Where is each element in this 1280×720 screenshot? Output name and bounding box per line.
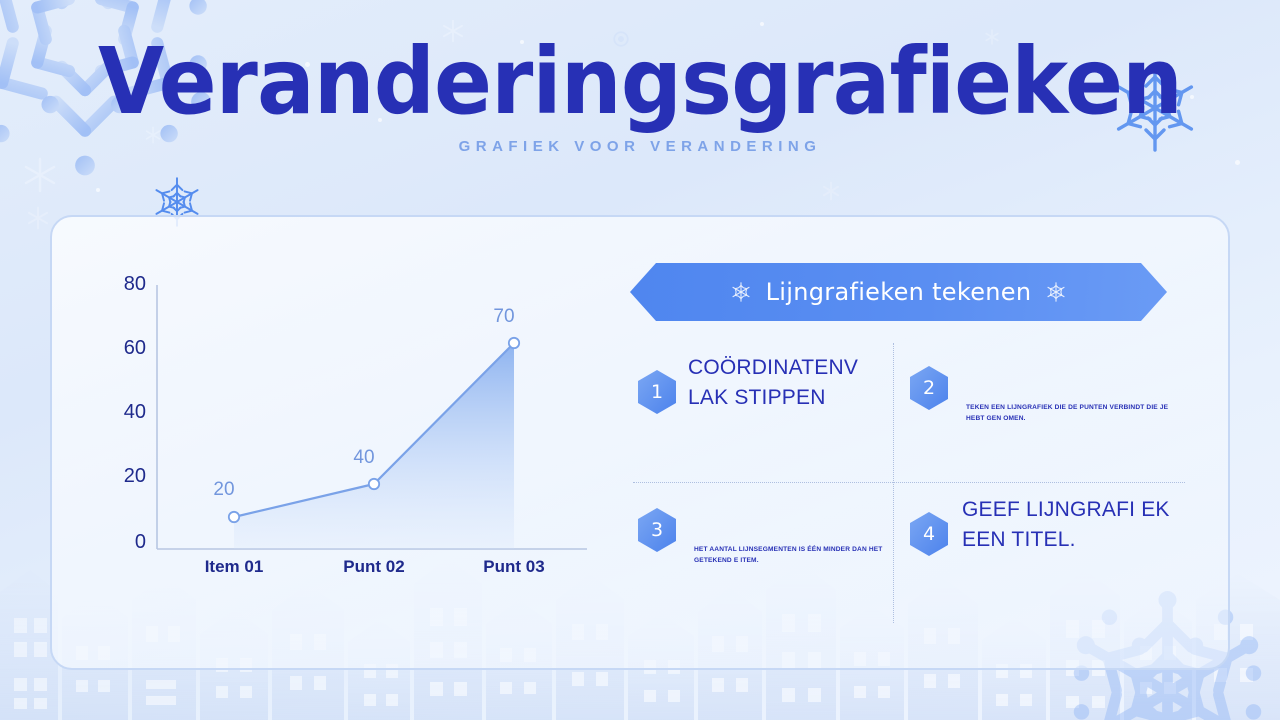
horizontal-divider — [633, 482, 1185, 483]
snowflake-icon — [20, 155, 60, 195]
instruction-item-1: 1 COÖRDINATENV LAK STIPPEN — [636, 351, 886, 476]
instructions-grid: 1 COÖRDINATENV LAK STIPPEN 2 TEKEN EEN L… — [630, 343, 1190, 623]
line-chart: 80 60 40 20 0 Item 01 Punt 02 Punt 03 20… — [112, 277, 632, 597]
snowflake-icon — [820, 180, 842, 202]
hexagon-badge: 3 — [636, 507, 678, 553]
data-point-label: 40 — [334, 447, 394, 469]
data-point-marker — [369, 479, 379, 489]
instruction-text: GEEF LIJNGRAFI EK EEN TITEL. — [962, 493, 1180, 618]
sparkle-dot — [1235, 160, 1240, 165]
page-title: Veranderingsgrafieken — [45, 36, 1235, 128]
page-header: Veranderingsgrafieken GRAFIEK VOOR VERAN… — [0, 36, 1280, 155]
snowflake-icon — [25, 205, 51, 231]
y-axis-tick-label: 20 — [106, 465, 146, 488]
instruction-number: 2 — [908, 365, 950, 411]
chart-area-fill — [234, 343, 514, 549]
instruction-number: 3 — [636, 507, 678, 553]
instruction-text: COÖRDINATENV LAK STIPPEN — [688, 351, 886, 476]
hexagon-badge: 2 — [908, 365, 950, 411]
snowflake-icon — [1045, 281, 1067, 303]
instruction-item-3: 3 HET AANTAL LIJNSEGMENTEN IS ÉÉN MINDER… — [636, 493, 886, 618]
instruction-text: HET AANTAL LIJNSEGMENTEN IS ÉÉN MINDER D… — [694, 545, 886, 565]
instruction-number: 4 — [908, 511, 950, 557]
instruction-number: 1 — [636, 369, 678, 415]
data-point-label: 20 — [194, 479, 254, 501]
y-axis-tick-label: 80 — [106, 273, 146, 296]
x-axis-tick-label: Punt 03 — [444, 557, 584, 577]
hexagon-badge: 4 — [908, 511, 950, 557]
sparkle-dot — [760, 22, 764, 26]
instruction-text: TEKEN EEN LIJNGRAFIEK DIE DE PUNTEN VERB… — [966, 403, 1171, 423]
instructions-panel: Lijngrafieken tekenen — [630, 263, 1190, 628]
panel-banner-label: Lijngrafieken tekenen — [766, 278, 1032, 306]
vertical-divider — [893, 343, 894, 623]
sparkle-dot — [96, 188, 100, 192]
y-axis-tick-label: 0 — [106, 531, 146, 554]
chart-plot-area — [112, 277, 632, 597]
y-axis-tick-label: 40 — [106, 401, 146, 424]
snowflake-icon — [730, 281, 752, 303]
data-point-marker — [229, 512, 239, 522]
instruction-item-4: 4 GEEF LIJNGRAFI EK EEN TITEL. — [908, 493, 1180, 618]
data-point-label: 70 — [474, 306, 534, 328]
instruction-item-2: 2 TEKEN EEN LIJNGRAFIEK DIE DE PUNTEN VE… — [908, 351, 1180, 476]
panel-banner: Lijngrafieken tekenen — [630, 263, 1167, 321]
page-subtitle: GRAFIEK VOOR VERANDERING — [0, 138, 1280, 155]
hexagon-badge: 1 — [636, 369, 678, 415]
x-axis-tick-label: Punt 02 — [304, 557, 444, 577]
y-axis-tick-label: 60 — [106, 337, 146, 360]
data-point-marker — [509, 338, 519, 348]
x-axis-tick-label: Item 01 — [164, 557, 304, 577]
content-card: 80 60 40 20 0 Item 01 Punt 02 Punt 03 20… — [50, 215, 1230, 670]
